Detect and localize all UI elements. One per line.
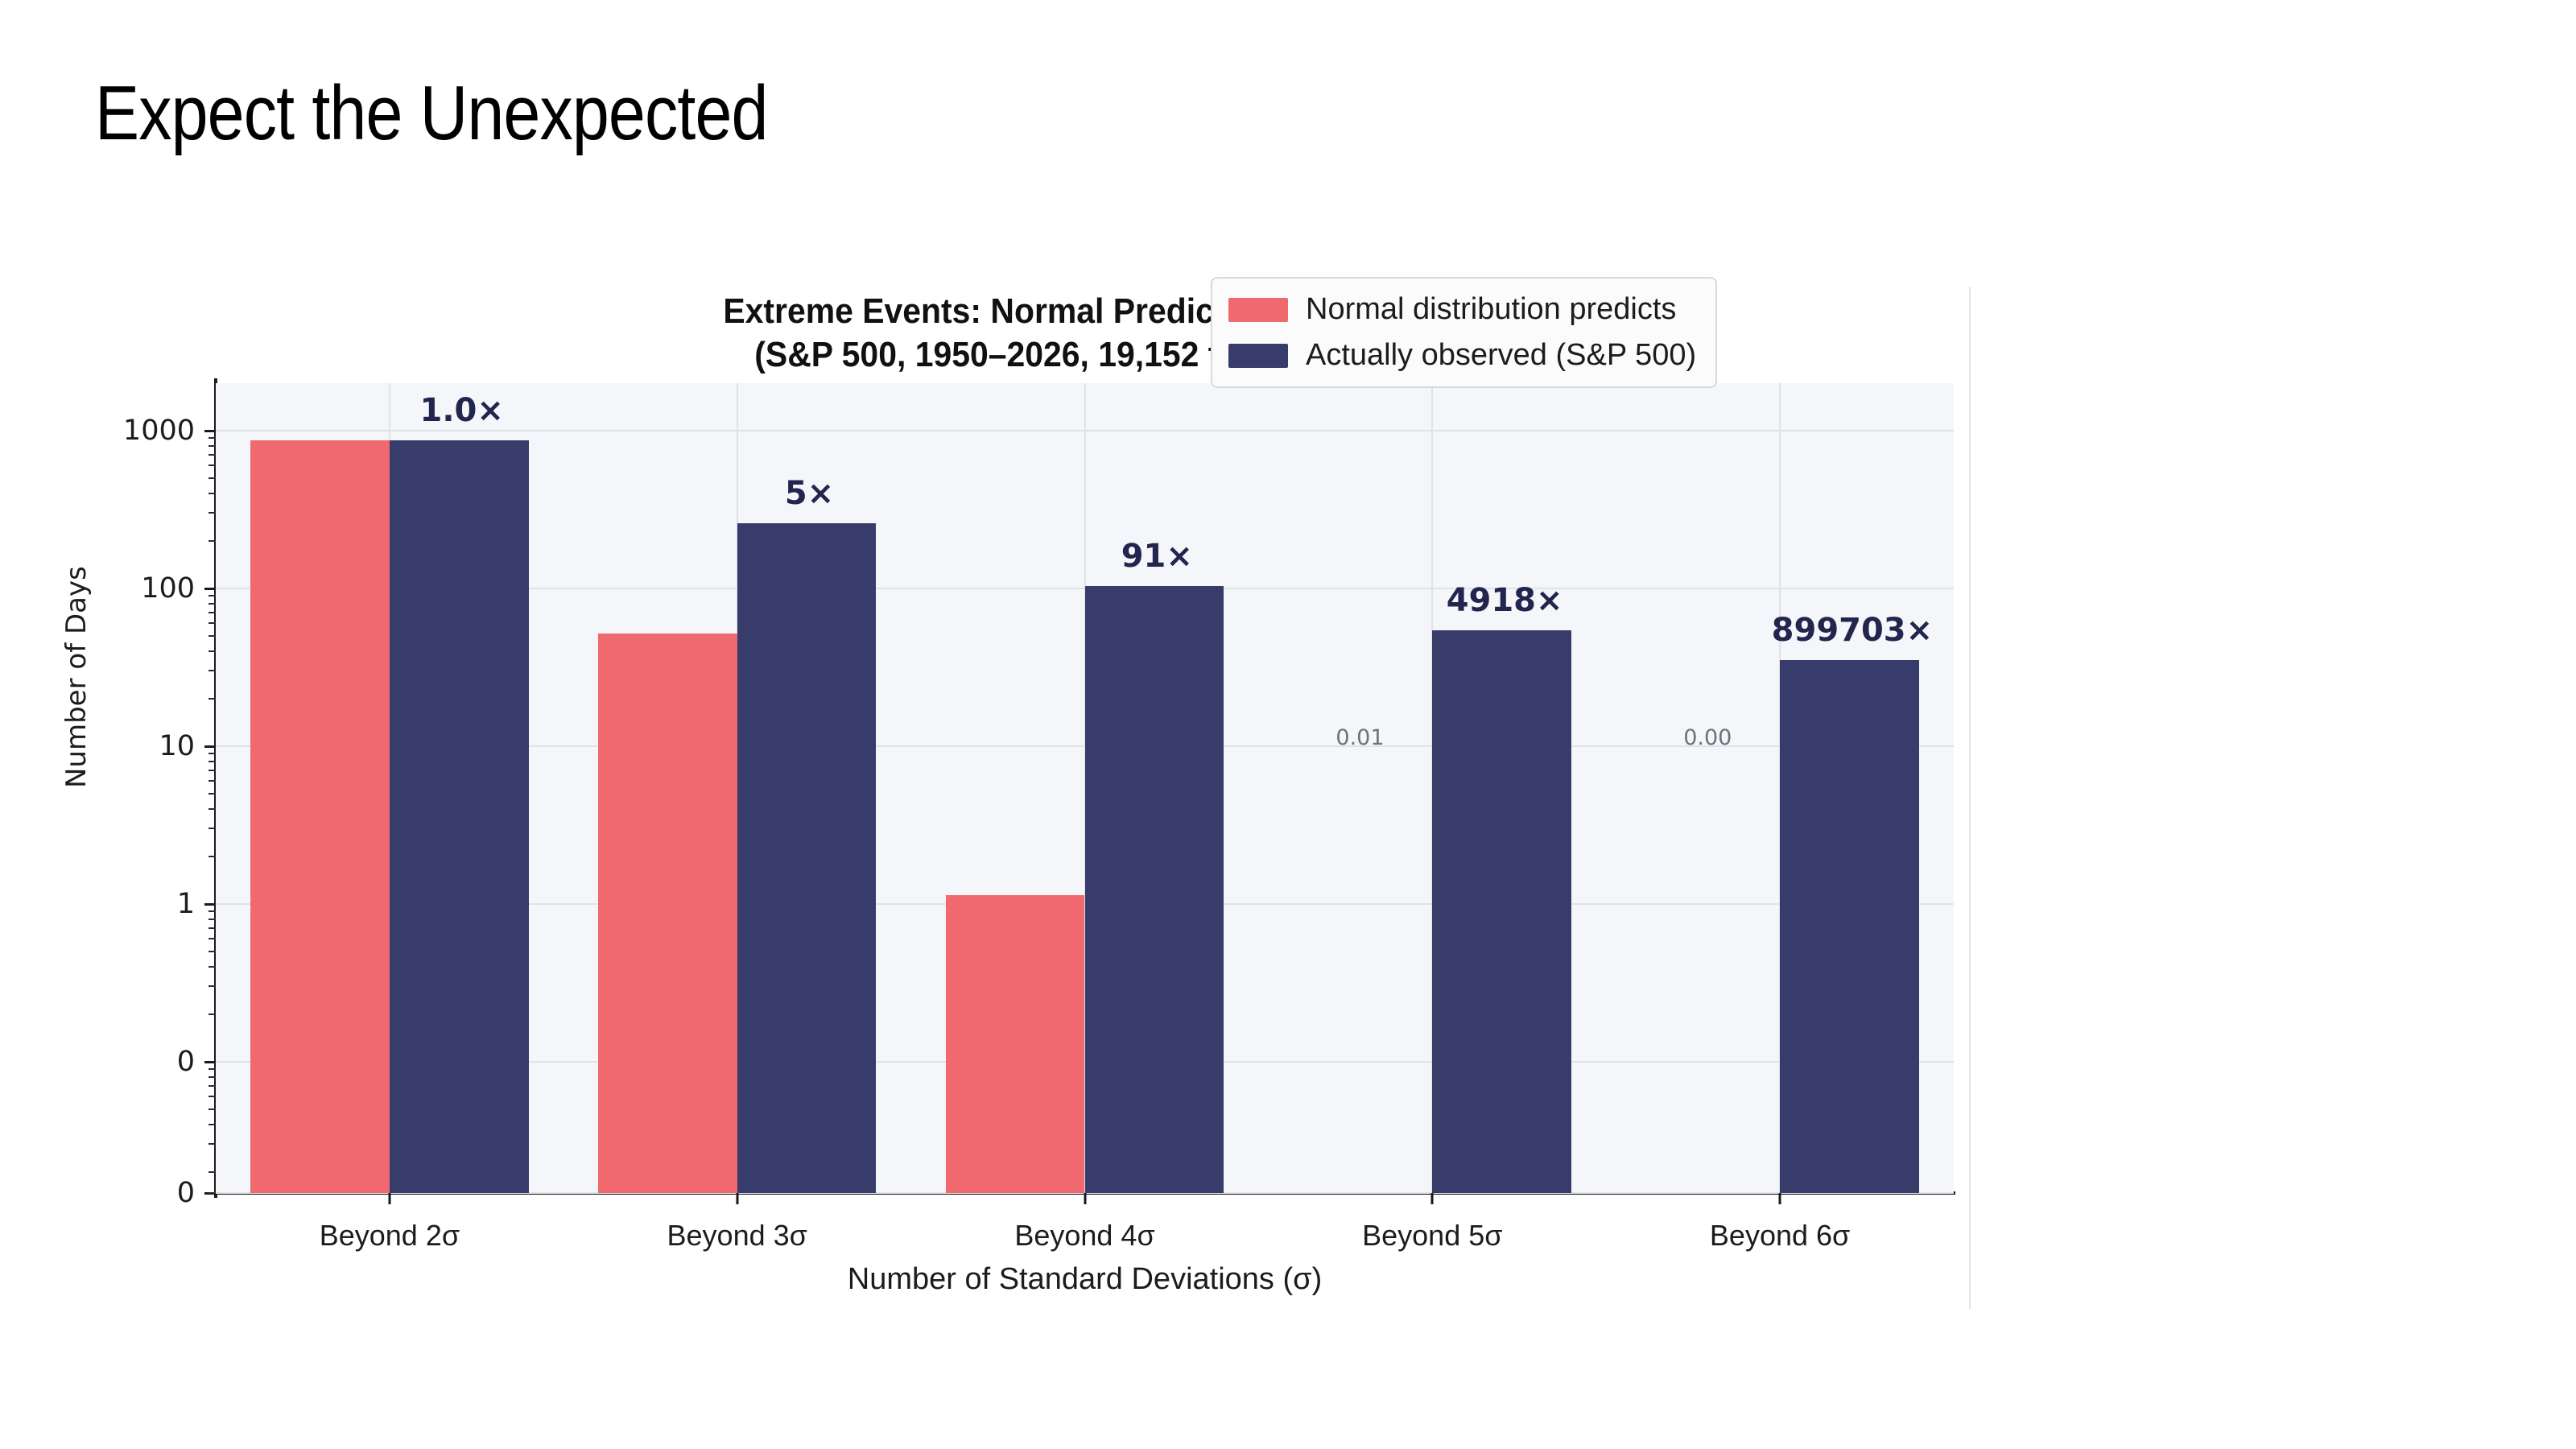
chart-legend[interactable]: Normal distribution predictsActually obs… xyxy=(1211,277,1717,388)
y-minor-tick xyxy=(208,1171,216,1173)
y-minor-tick xyxy=(208,1068,216,1070)
y-minor-tick xyxy=(208,1096,216,1097)
y-minor-tick xyxy=(208,1192,216,1194)
y-tick-label: 0 xyxy=(177,1046,195,1078)
y-minor-tick xyxy=(208,793,216,795)
x-tick-label: Beyond 4σ xyxy=(1014,1219,1154,1253)
y-minor-tick xyxy=(208,512,216,514)
y-minor-tick xyxy=(208,856,216,857)
y-minor-tick xyxy=(208,612,216,613)
y-minor-tick xyxy=(208,1085,216,1087)
y-minor-tick xyxy=(208,540,216,542)
x-tick-label: Beyond 6σ xyxy=(1710,1219,1850,1253)
y-minor-tick xyxy=(208,477,216,479)
slide-canvas: Expect the Unexpected Extreme Events: No… xyxy=(0,0,2576,1449)
y-minor-tick xyxy=(208,985,216,987)
legend-item[interactable]: Normal distribution predicts xyxy=(1228,292,1696,327)
bar-observed xyxy=(390,440,529,1193)
y-minor-tick xyxy=(208,770,216,771)
y-minor-tick xyxy=(208,454,216,456)
x-tick-label: Beyond 2σ xyxy=(320,1219,460,1253)
y-minor-tick xyxy=(208,808,216,810)
multiplier-annotation: 1.0× xyxy=(420,392,504,429)
y-minor-tick xyxy=(208,635,216,637)
legend-label: Normal distribution predicts xyxy=(1306,292,1676,327)
tiny-value-label: 0.00 xyxy=(1683,725,1732,750)
x-tick-label: Beyond 3σ xyxy=(667,1219,807,1253)
multiplier-annotation: 5× xyxy=(785,475,834,512)
y-tick-mark xyxy=(204,903,216,906)
legend-swatch-observed xyxy=(1228,344,1288,368)
bar-predicted xyxy=(598,634,737,1193)
y-minor-tick xyxy=(208,1013,216,1015)
bar-predicted xyxy=(946,895,1085,1193)
legend-item[interactable]: Actually observed (S&P 500) xyxy=(1228,338,1696,373)
y-minor-tick xyxy=(208,437,216,439)
y-tick-label: 1 xyxy=(177,888,195,920)
page-title: Expect the Unexpected xyxy=(95,69,768,158)
y-minor-tick xyxy=(208,670,216,671)
y-minor-tick xyxy=(208,1124,216,1125)
bar-predicted xyxy=(250,440,390,1193)
legend-swatch-predicted xyxy=(1228,298,1288,322)
bar-observed xyxy=(1780,660,1919,1193)
y-tick-label: 10 xyxy=(159,730,195,762)
x-axis-label: Number of Standard Deviations (σ) xyxy=(216,1262,1954,1297)
y-minor-tick xyxy=(208,780,216,782)
y-tick-mark xyxy=(204,745,216,748)
y-tick-label: 1000 xyxy=(123,415,195,447)
y-minor-tick xyxy=(208,595,216,597)
multiplier-annotation: 899703× xyxy=(1772,612,1934,649)
y-tick-label: 100 xyxy=(141,572,195,605)
y-minor-tick xyxy=(208,828,216,829)
multiplier-annotation: 91× xyxy=(1121,538,1193,575)
y-minor-tick xyxy=(208,493,216,494)
bar-observed xyxy=(737,523,877,1193)
x-tick-label: Beyond 5σ xyxy=(1362,1219,1502,1253)
y-minor-tick xyxy=(208,753,216,754)
y-minor-tick xyxy=(208,1108,216,1110)
y-axis-label: Number of Days xyxy=(60,566,93,788)
y-tick-label: 0 xyxy=(177,1177,195,1209)
tiny-value-label: 0.01 xyxy=(1335,725,1384,750)
x-tick-mark xyxy=(1431,1193,1434,1204)
y-tick-mark xyxy=(204,588,216,590)
y-tick-mark xyxy=(204,430,216,432)
x-tick-mark xyxy=(1779,1193,1781,1204)
y-minor-tick xyxy=(208,603,216,605)
multiplier-annotation: 4918× xyxy=(1447,582,1563,619)
x-tick-mark xyxy=(1084,1193,1086,1204)
bar-observed xyxy=(1432,630,1571,1193)
y-minor-tick xyxy=(208,951,216,952)
y-minor-tick xyxy=(208,927,216,929)
legend-label: Actually observed (S&P 500) xyxy=(1306,338,1696,373)
y-tick-mark xyxy=(204,1061,216,1063)
y-minor-tick xyxy=(208,698,216,700)
y-minor-tick xyxy=(208,919,216,920)
y-minor-tick xyxy=(208,966,216,968)
chart-figure: Extreme Events: Normal Prediction vs. Re… xyxy=(0,266,1980,1312)
plot-area: 100010010100Beyond 2σ1.0×Beyond 3σ5×Beyo… xyxy=(216,383,1954,1193)
y-minor-tick xyxy=(208,1076,216,1078)
x-tick-mark xyxy=(736,1193,738,1204)
y-minor-tick xyxy=(208,1143,216,1145)
y-minor-tick xyxy=(208,464,216,466)
y-minor-tick xyxy=(208,445,216,447)
y-minor-tick xyxy=(208,761,216,762)
x-tick-mark xyxy=(388,1193,390,1204)
y-minor-tick xyxy=(208,622,216,624)
y-minor-tick xyxy=(208,650,216,652)
y-minor-tick xyxy=(208,938,216,939)
bar-observed xyxy=(1085,586,1224,1193)
y-minor-tick xyxy=(208,910,216,912)
